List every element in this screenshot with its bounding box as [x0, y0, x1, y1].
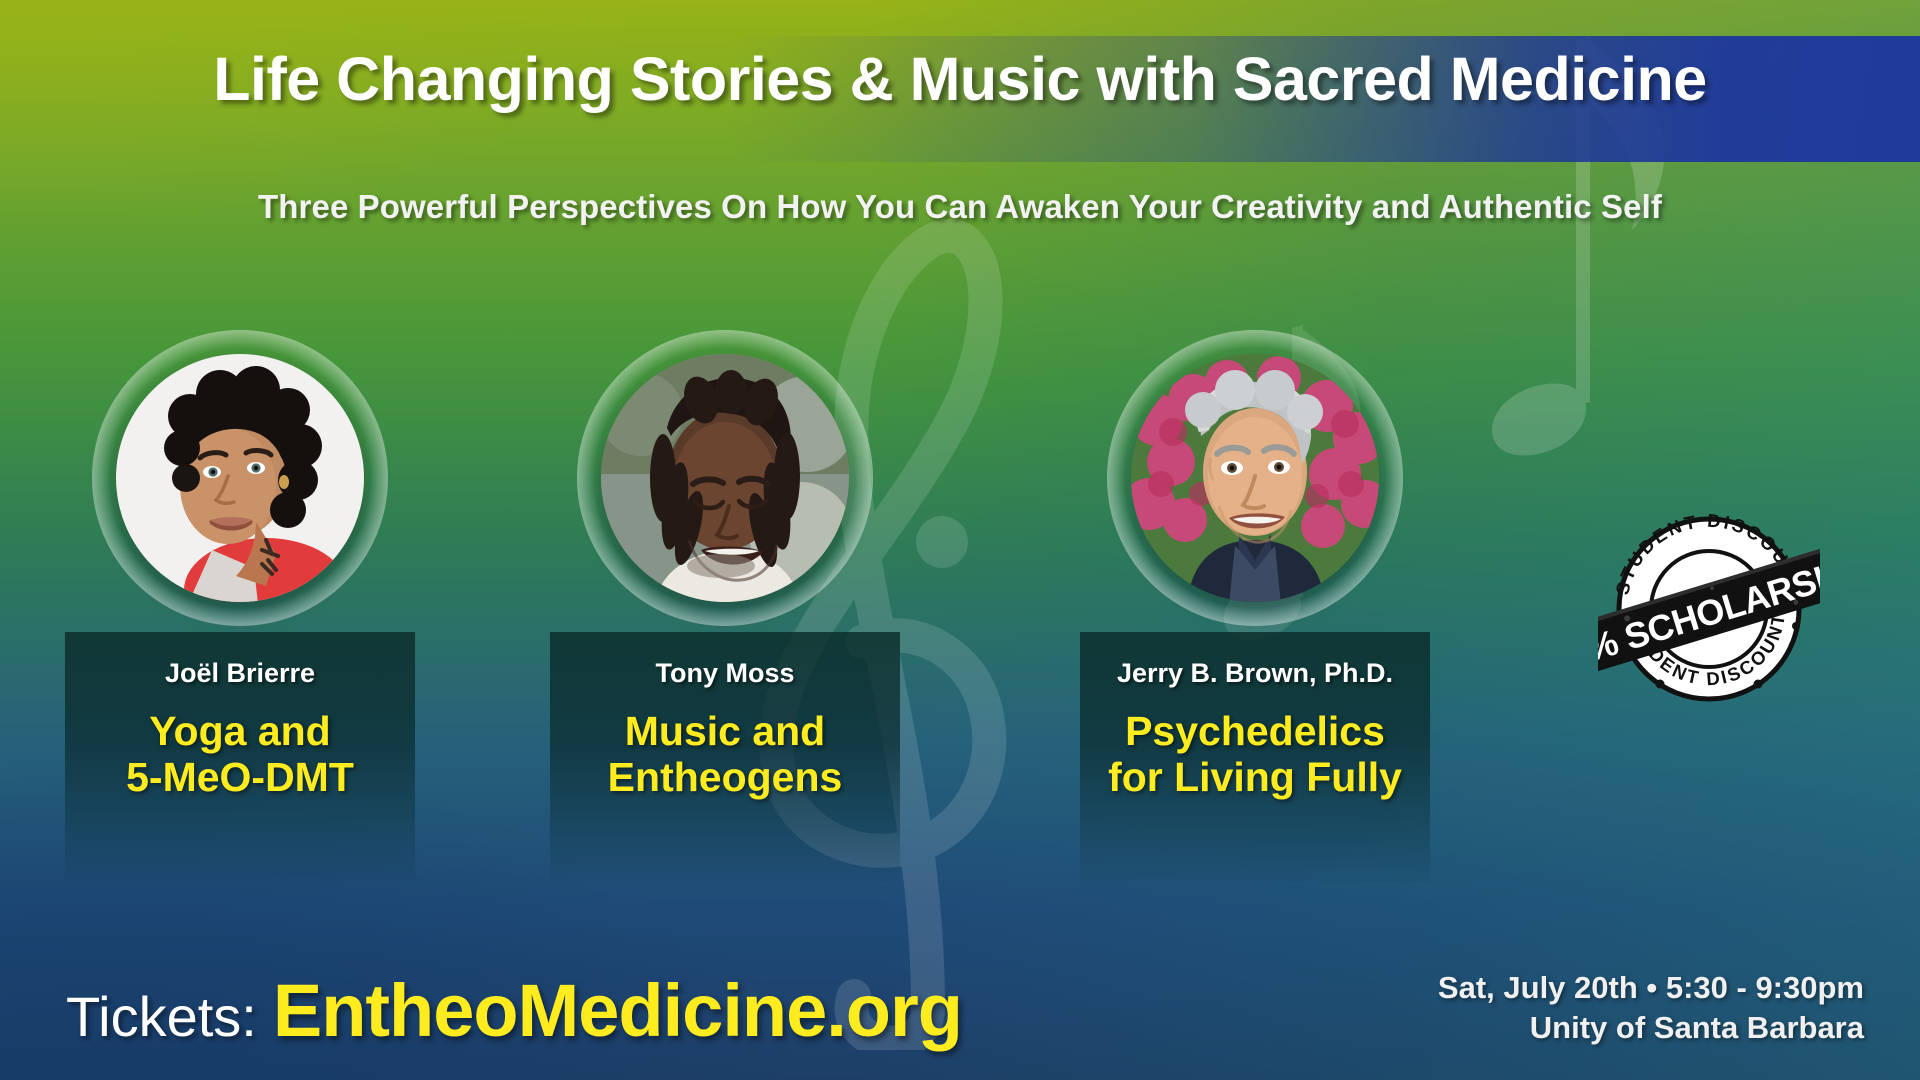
portrait-wrapper: [92, 330, 388, 626]
speaker-card-joel-brierre: Joël Brierre Yoga and 5-MeO-DMT: [60, 330, 420, 626]
speaker-topic-line1: Yoga and: [65, 708, 415, 754]
speaker-card-tony-moss: Tony Moss Music and Entheogens: [545, 330, 905, 626]
portrait-wrapper: [577, 330, 873, 626]
tickets-line: Tickets:EntheoMedicine.org: [66, 968, 962, 1053]
speaker-topic-line1: Music and: [550, 708, 900, 754]
event-date-time: Sat, July 20th • 5:30 - 9:30pm: [1438, 968, 1864, 1008]
event-venue: Unity of Santa Barbara: [1438, 1008, 1864, 1048]
speaker-info-card: Tony Moss Music and Entheogens: [550, 632, 900, 882]
speaker-topic-line1: Psychedelics: [1080, 708, 1430, 754]
speaker-card-jerry-b-brown: Jerry B. Brown, Ph.D. Psychedelics for L…: [1075, 330, 1435, 626]
speaker-topic-line2: for Living Fully: [1080, 754, 1430, 800]
portrait-halo: [577, 330, 873, 626]
speaker-info-card: Jerry B. Brown, Ph.D. Psychedelics for L…: [1080, 632, 1430, 882]
speaker-name: Tony Moss: [550, 658, 900, 689]
speaker-topic: Psychedelics for Living Fully: [1080, 708, 1430, 801]
speaker-topic-line2: 5-MeO-DMT: [65, 754, 415, 800]
speaker-topic-line2: Entheogens: [550, 754, 900, 800]
page-title: Life Changing Stories & Music with Sacre…: [0, 44, 1920, 114]
speaker-topic: Music and Entheogens: [550, 708, 900, 801]
event-poster: Life Changing Stories & Music with Sacre…: [0, 0, 1920, 1080]
page-subtitle: Three Powerful Perspectives On How You C…: [0, 188, 1920, 226]
portrait-halo: [92, 330, 388, 626]
speaker-name: Joël Brierre: [65, 658, 415, 689]
tickets-url-link[interactable]: EntheoMedicine.org: [273, 969, 962, 1052]
speaker-topic: Yoga and 5-MeO-DMT: [65, 708, 415, 801]
speaker-info-card: Joël Brierre Yoga and 5-MeO-DMT: [65, 632, 415, 882]
speaker-name: Jerry B. Brown, Ph.D.: [1080, 658, 1430, 689]
student-discount-stamp: STUDENT DISCOUNT STUDENT DISCOUNT 50% SC…: [1598, 498, 1820, 720]
portrait-halo: [1107, 330, 1403, 626]
event-details: Sat, July 20th • 5:30 - 9:30pm Unity of …: [1438, 968, 1864, 1047]
tickets-label: Tickets:: [66, 985, 257, 1048]
portrait-wrapper: [1107, 330, 1403, 626]
